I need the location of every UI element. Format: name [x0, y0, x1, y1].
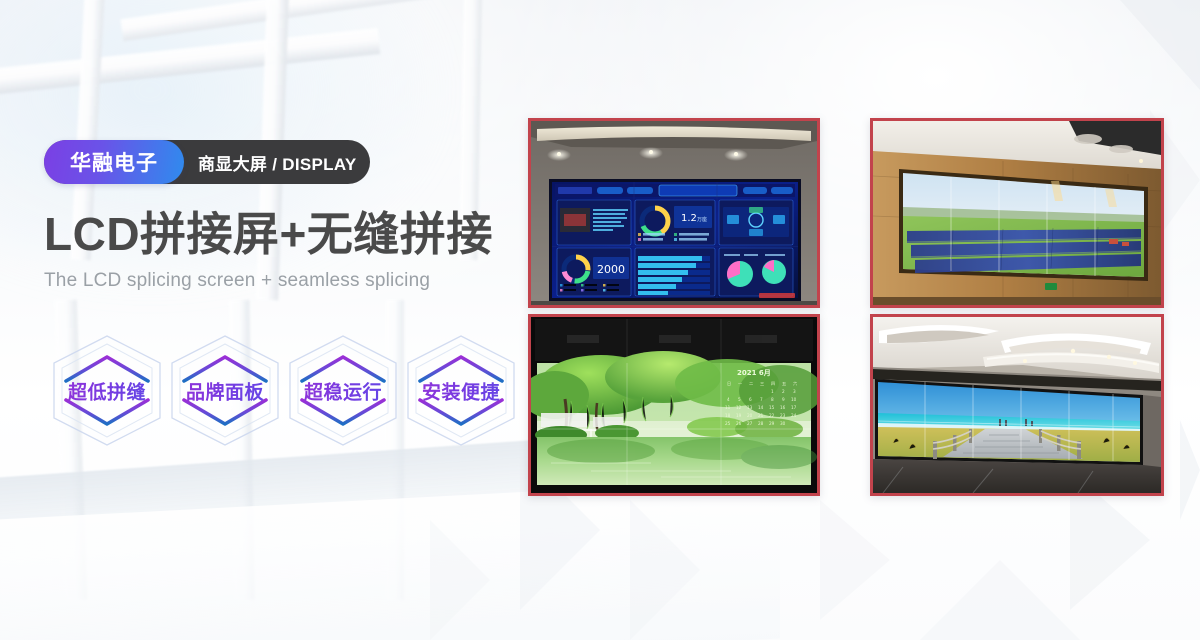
- svg-text:25: 25: [725, 421, 731, 426]
- svg-text:2021 6月: 2021 6月: [737, 369, 771, 377]
- svg-text:一: 一: [738, 381, 742, 386]
- svg-text:29: 29: [769, 421, 775, 426]
- svg-text:12: 12: [736, 405, 742, 410]
- svg-text:四: 四: [771, 381, 775, 386]
- photo-card-beach-boardwalk[interactable]: [870, 314, 1164, 496]
- feature-badge-list: 超低拼缝 品牌面板: [48, 333, 520, 448]
- feature-badge-3: 安装便捷: [402, 333, 520, 448]
- feature-badge-label-3: 安装便捷: [402, 377, 520, 404]
- photo-beach-boardwalk-video-wall: [873, 317, 1161, 493]
- feature-badge-1: 品牌面板: [166, 333, 284, 448]
- svg-text:8: 8: [771, 397, 774, 402]
- svg-text:23: 23: [780, 413, 786, 418]
- svg-text:4: 4: [727, 397, 730, 402]
- feature-badge-2: 超稳运行: [284, 333, 402, 448]
- svg-text:5: 5: [738, 397, 741, 402]
- svg-text:2000: 2000: [597, 263, 625, 276]
- svg-text:六: 六: [793, 380, 797, 387]
- svg-text:18: 18: [725, 413, 731, 418]
- svg-text:10: 10: [791, 397, 797, 402]
- svg-text:7: 7: [760, 397, 763, 402]
- svg-text:21: 21: [758, 413, 764, 418]
- brand-category-text: 商显大屏 / DISPLAY: [198, 150, 357, 175]
- svg-text:2: 2: [782, 389, 785, 394]
- feature-badge-0: 超低拼缝: [48, 333, 166, 448]
- feature-badge-label-2: 超稳运行: [284, 377, 402, 404]
- svg-text:30: 30: [780, 421, 786, 426]
- svg-text:1.2: 1.2: [681, 213, 697, 224]
- promo-banner: 华融电子 商显大屏 / DISPLAY LCD拼接屏+无缝拼接 The LCD …: [0, 0, 1200, 640]
- brand-name-text: 华融电子: [70, 147, 158, 177]
- brand-name-chip: 华融电子: [44, 140, 184, 184]
- page-title: LCD拼接屏+无缝拼接: [44, 210, 524, 260]
- left-content-column: 华融电子 商显大屏 / DISPLAY LCD拼接屏+无缝拼接 The LCD …: [44, 140, 524, 292]
- photo-card-lakeside[interactable]: 2021 6月 日一二 三四五六 123 4567 8910 11121314 …: [528, 314, 820, 496]
- svg-text:五: 五: [782, 381, 786, 386]
- svg-text:二: 二: [749, 381, 753, 386]
- photo-dashboard-video-wall: 1.2 万座: [531, 121, 817, 305]
- photo-lakeside-video-wall: 2021 6月 日一二 三四五六 123 4567 8910 11121314 …: [531, 317, 817, 493]
- svg-text:1: 1: [771, 389, 774, 394]
- feature-badge-label-1: 品牌面板: [166, 377, 284, 404]
- svg-text:14: 14: [758, 405, 764, 410]
- svg-text:26: 26: [736, 421, 742, 426]
- photo-solar-farm-video-wall: [873, 121, 1161, 305]
- brand-pill: 华融电子 商显大屏 / DISPLAY: [44, 140, 370, 184]
- svg-text:11: 11: [725, 405, 731, 410]
- photo-card-dashboard[interactable]: 1.2 万座: [528, 118, 820, 308]
- svg-text:6: 6: [749, 397, 752, 402]
- svg-text:3: 3: [793, 389, 796, 394]
- svg-text:27: 27: [747, 421, 753, 426]
- svg-text:15: 15: [769, 405, 775, 410]
- svg-text:13: 13: [747, 405, 753, 410]
- svg-text:19: 19: [736, 413, 742, 418]
- feature-badge-label-0: 超低拼缝: [48, 377, 166, 404]
- brand-category-chip: 商显大屏 / DISPLAY: [184, 140, 357, 184]
- svg-text:16: 16: [780, 405, 786, 410]
- svg-text:22: 22: [769, 413, 775, 418]
- svg-text:24: 24: [791, 413, 797, 418]
- svg-text:17: 17: [791, 405, 797, 410]
- svg-text:三: 三: [760, 381, 764, 386]
- svg-text:28: 28: [758, 421, 764, 426]
- svg-text:20: 20: [747, 413, 753, 418]
- svg-text:9: 9: [782, 397, 785, 402]
- photo-card-solar-farm[interactable]: [870, 118, 1164, 308]
- product-photo-grid: 1.2 万座: [528, 118, 1160, 490]
- page-subtitle: The LCD splicing screen + seamless splic…: [44, 270, 524, 292]
- svg-text:万座: 万座: [697, 216, 707, 223]
